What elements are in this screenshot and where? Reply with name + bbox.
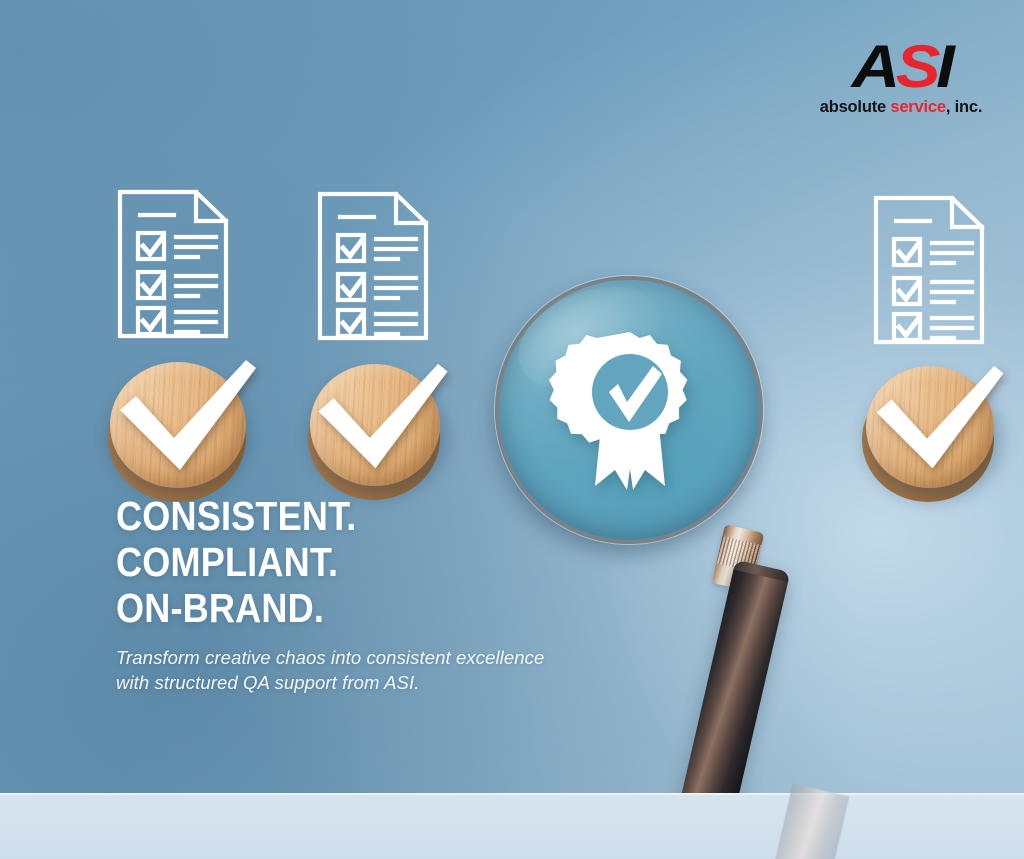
wood-check-disc-1: [100, 350, 260, 500]
copy-block: CONSISTENT. COMPLIANT. ON-BRAND. Transfo…: [116, 493, 544, 695]
bottom-band: [0, 793, 1024, 859]
checklist-document-1-icon: [118, 190, 228, 338]
check-mark-icon: [316, 362, 452, 474]
tagline-absolute: absolute: [820, 98, 891, 116]
checklist-document-3-icon: [874, 196, 984, 344]
logo-letter-a: A: [852, 33, 896, 100]
headline-line-2: COMPLIANT.: [116, 539, 493, 585]
quality-badge-check-icon: [565, 330, 695, 495]
bottom-band-edge: [0, 793, 1024, 795]
wood-check-disc-3: [856, 356, 1016, 506]
subcopy-line-2: with structured QA support from ASI.: [116, 670, 544, 695]
asi-logo-tagline: absolute service, inc.: [806, 98, 996, 117]
tagline-service: service: [890, 98, 946, 116]
tagline-inc: , inc.: [946, 98, 982, 116]
headline-line-3: ON-BRAND.: [116, 585, 493, 631]
checklist-document-2-icon: [318, 192, 428, 340]
subcopy-line-1: Transform creative chaos into consistent…: [116, 645, 544, 670]
wood-check-disc-2: [300, 352, 460, 502]
logo-letter-s: S: [896, 33, 936, 100]
check-mark-icon: [874, 364, 1008, 474]
asi-logo-mark: ASI: [795, 38, 1008, 96]
logo-letter-i: I: [936, 33, 950, 100]
headline-line-1: CONSISTENT.: [116, 493, 493, 539]
marketing-graphic-canvas: ASI absolute service, inc. CONSISTENT. C…: [0, 0, 1024, 859]
check-mark-icon: [118, 358, 260, 476]
asi-logo: ASI absolute service, inc.: [806, 38, 996, 117]
